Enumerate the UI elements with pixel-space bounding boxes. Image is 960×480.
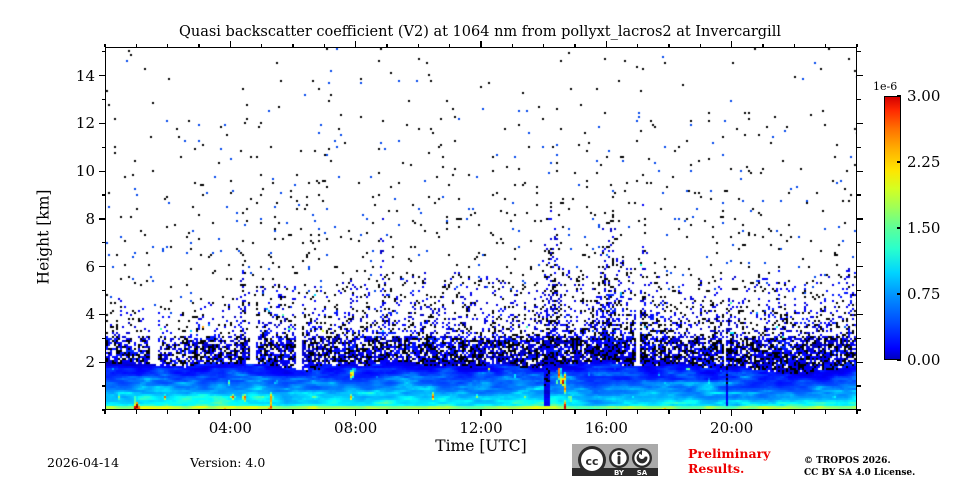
plot-area <box>105 47 857 410</box>
y-minor-tick <box>102 290 106 291</box>
y-minor-tick <box>102 409 106 410</box>
y-minor-tick-right <box>857 194 861 195</box>
y-major-tick <box>99 75 105 76</box>
page-title: Quasi backscatter coefficient (V2) at 10… <box>0 24 960 40</box>
heatmap-data-canvas <box>106 48 857 410</box>
y-minor-tick-right <box>857 99 861 100</box>
y-tick-label: 14 <box>0 67 95 85</box>
x-minor-tick <box>198 410 199 414</box>
x-minor-tick-top <box>637 44 638 48</box>
y-major-tick-right <box>857 171 863 172</box>
y-major-tick-right <box>857 218 863 219</box>
colorbar-tick <box>897 227 901 228</box>
x-minor-tick-top <box>167 44 168 48</box>
x-minor-tick <box>668 410 669 414</box>
x-minor-tick-top <box>386 44 387 48</box>
x-minor-tick-top <box>136 44 137 48</box>
y-major-tick <box>99 218 105 219</box>
x-minor-tick-top <box>104 44 105 48</box>
colorbar-tick-label: 0.00 <box>907 351 940 369</box>
x-major-tick <box>731 410 732 416</box>
badge-by-label: BY <box>614 469 625 476</box>
x-minor-tick-top <box>261 44 262 48</box>
y-major-tick <box>99 314 105 315</box>
y-tick-label: 2 <box>0 353 95 371</box>
x-minor-tick-top <box>825 44 826 48</box>
colorbar-tick-label: 2.25 <box>907 153 940 171</box>
x-minor-tick <box>543 410 544 414</box>
x-minor-tick-top <box>762 44 763 48</box>
y-tick-label: 10 <box>0 162 95 180</box>
x-minor-tick <box>449 410 450 414</box>
x-minor-tick <box>794 410 795 414</box>
colorbar-tick-label: 1.50 <box>907 219 940 237</box>
x-minor-tick-top <box>856 44 857 48</box>
y-major-tick-right <box>857 266 863 267</box>
colorbar-tick-label: 3.00 <box>907 87 940 105</box>
x-minor-tick <box>762 410 763 414</box>
y-minor-tick-right <box>857 409 861 410</box>
y-minor-tick <box>102 147 106 148</box>
x-minor-tick <box>167 410 168 414</box>
y-minor-tick-right <box>857 242 861 243</box>
preliminary-line-1: Preliminary <box>688 447 770 462</box>
colorbar-tick <box>897 293 901 294</box>
x-major-tick <box>355 410 356 416</box>
y-axis-label: Height [km] <box>34 190 52 285</box>
x-minor-tick-top <box>198 44 199 48</box>
x-minor-tick-top <box>292 44 293 48</box>
colorbar-tick <box>897 161 901 162</box>
x-minor-tick <box>825 410 826 414</box>
x-minor-tick <box>700 410 701 414</box>
y-minor-tick-right <box>857 338 861 339</box>
x-tick-label: 08:00 <box>334 419 377 437</box>
footer-version: Version: 4.0 <box>190 455 265 470</box>
x-major-tick <box>230 410 231 416</box>
x-minor-tick-top <box>418 44 419 48</box>
x-minor-tick <box>637 410 638 414</box>
preliminary-line-2: Results. <box>688 462 770 477</box>
x-major-tick <box>480 410 481 416</box>
x-minor-tick <box>386 410 387 414</box>
y-tick-label: 12 <box>0 114 95 132</box>
y-minor-tick <box>102 338 106 339</box>
y-minor-tick <box>102 385 106 386</box>
y-tick-label: 4 <box>0 305 95 323</box>
colorbar-tick <box>897 359 901 360</box>
y-minor-tick <box>102 242 106 243</box>
x-major-tick-top <box>731 41 732 47</box>
y-minor-tick-right <box>857 51 861 52</box>
lidar-quicklook-figure: Quasi backscatter coefficient (V2) at 10… <box>0 0 960 480</box>
y-major-tick <box>99 362 105 363</box>
y-major-tick-right <box>857 123 863 124</box>
x-major-tick <box>606 410 607 416</box>
x-minor-tick <box>136 410 137 414</box>
badge-sa-label: SA <box>637 469 648 476</box>
x-minor-tick-top <box>700 44 701 48</box>
cc-by-sa-badge-icon: cc BY SA <box>572 444 658 476</box>
x-major-tick-top <box>606 41 607 47</box>
y-minor-tick <box>102 51 106 52</box>
footer-date: 2026-04-14 <box>47 455 119 470</box>
x-minor-tick <box>418 410 419 414</box>
colorbar-tick-label: 0.75 <box>907 285 940 303</box>
x-minor-tick-top <box>543 44 544 48</box>
copyright-line-1: © TROPOS 2026. <box>804 455 915 467</box>
x-minor-tick <box>574 410 575 414</box>
y-minor-tick-right <box>857 147 861 148</box>
x-minor-tick-top <box>668 44 669 48</box>
preliminary-results-note: Preliminary Results. <box>688 447 770 477</box>
x-minor-tick <box>292 410 293 414</box>
x-minor-tick-top <box>512 44 513 48</box>
colorbar-exponent-label: 1e-6 <box>873 80 897 93</box>
y-minor-tick <box>102 99 106 100</box>
x-tick-label: 16:00 <box>585 419 628 437</box>
y-major-tick-right <box>857 362 863 363</box>
y-major-tick <box>99 266 105 267</box>
svg-text:cc: cc <box>585 455 598 468</box>
x-tick-label: 20:00 <box>710 419 753 437</box>
colorbar-tick <box>897 95 901 96</box>
y-major-tick <box>99 171 105 172</box>
x-minor-tick-top <box>794 44 795 48</box>
x-minor-tick-top <box>324 44 325 48</box>
x-minor-tick <box>512 410 513 414</box>
y-minor-tick <box>102 194 106 195</box>
x-major-tick-top <box>355 41 356 47</box>
y-major-tick <box>99 123 105 124</box>
x-major-tick-top <box>230 41 231 47</box>
x-minor-tick <box>261 410 262 414</box>
x-tick-label: 04:00 <box>209 419 252 437</box>
x-tick-label: 12:00 <box>459 419 502 437</box>
copyright-line-2: CC BY SA 4.0 License. <box>804 467 915 479</box>
x-minor-tick-top <box>449 44 450 48</box>
y-minor-tick-right <box>857 290 861 291</box>
y-major-tick-right <box>857 314 863 315</box>
y-minor-tick-right <box>857 385 861 386</box>
y-major-tick-right <box>857 75 863 76</box>
x-minor-tick-top <box>574 44 575 48</box>
copyright-note: © TROPOS 2026. CC BY SA 4.0 License. <box>804 455 915 479</box>
x-major-tick-top <box>480 41 481 47</box>
x-minor-tick <box>324 410 325 414</box>
